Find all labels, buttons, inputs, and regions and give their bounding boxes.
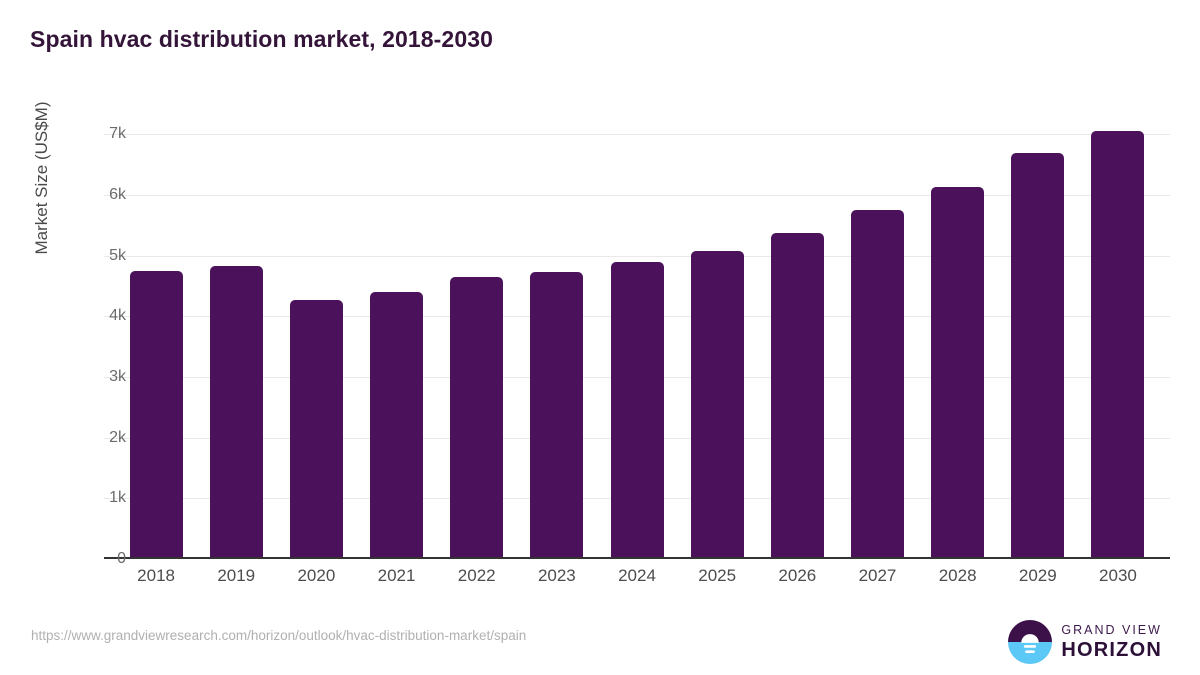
x-tick-label-2022: 2022 [437, 566, 517, 586]
x-tick-label-2027: 2027 [837, 566, 917, 586]
x-tick-label-2023: 2023 [517, 566, 597, 586]
x-tick-label-2026: 2026 [757, 566, 837, 586]
chart-page: Spain hvac distribution market, 2018-203… [0, 0, 1200, 675]
x-tick-label-2025: 2025 [677, 566, 757, 586]
y-tick-label: 5k [66, 247, 126, 265]
bar-slot [196, 110, 276, 559]
bar-slot [837, 110, 917, 559]
bar-2020[interactable] [290, 300, 343, 559]
x-tick-label-2021: 2021 [356, 566, 436, 586]
bar-2027[interactable] [851, 210, 904, 559]
y-axis-title: Market Size (US$M) [32, 68, 52, 288]
bar-slot [677, 110, 757, 559]
x-tick-label-2028: 2028 [918, 566, 998, 586]
y-tick-label: 6k [66, 186, 126, 204]
grand-view-horizon-logo-icon [1008, 620, 1052, 664]
source-url[interactable]: https://www.grandviewresearch.com/horizo… [31, 628, 526, 643]
bar-2021[interactable] [370, 292, 423, 559]
brand-line-1: GRAND VIEW [1061, 624, 1162, 637]
bar-slot [356, 110, 436, 559]
bar-2022[interactable] [450, 277, 503, 559]
y-tick-label: 7k [66, 125, 126, 143]
bar-slot [918, 110, 998, 559]
brand-line-2: HORIZON [1061, 640, 1162, 660]
bar-2023[interactable] [530, 272, 583, 559]
bar-slot [1078, 110, 1158, 559]
x-tick-label-2020: 2020 [276, 566, 356, 586]
bar-2029[interactable] [1011, 153, 1064, 559]
brand-logo: GRAND VIEW HORIZON [1008, 620, 1162, 664]
bar-slot [276, 110, 356, 559]
bar-2019[interactable] [210, 266, 263, 559]
x-tick-label-2029: 2029 [998, 566, 1078, 586]
page-title: Spain hvac distribution market, 2018-203… [30, 26, 493, 53]
x-tick-label-2030: 2030 [1078, 566, 1158, 586]
bar-slot [998, 110, 1078, 559]
bar-2018[interactable] [130, 271, 183, 559]
x-tick-label-2018: 2018 [116, 566, 196, 586]
bar-slot [597, 110, 677, 559]
bar-series [104, 110, 1170, 559]
x-tick-label-2024: 2024 [597, 566, 677, 586]
bar-2025[interactable] [691, 251, 744, 559]
bar-slot [437, 110, 517, 559]
brand-wordmark: GRAND VIEW HORIZON [1061, 624, 1162, 661]
plot-area [104, 110, 1170, 559]
bar-2024[interactable] [611, 262, 664, 559]
y-tick-label: 4k [66, 307, 126, 325]
y-tick-label: 2k [66, 429, 126, 447]
bar-2028[interactable] [931, 187, 984, 559]
bar-slot [757, 110, 837, 559]
bar-2030[interactable] [1091, 131, 1144, 559]
bar-slot [517, 110, 597, 559]
x-axis-line [104, 557, 1170, 559]
bar-slot [116, 110, 196, 559]
x-axis-tick-labels: 2018201920202021202220232024202520262027… [104, 566, 1170, 586]
y-tick-label: 1k [66, 489, 126, 507]
y-tick-label: 3k [66, 368, 126, 386]
x-tick-label-2019: 2019 [196, 566, 276, 586]
bar-2026[interactable] [771, 233, 824, 559]
